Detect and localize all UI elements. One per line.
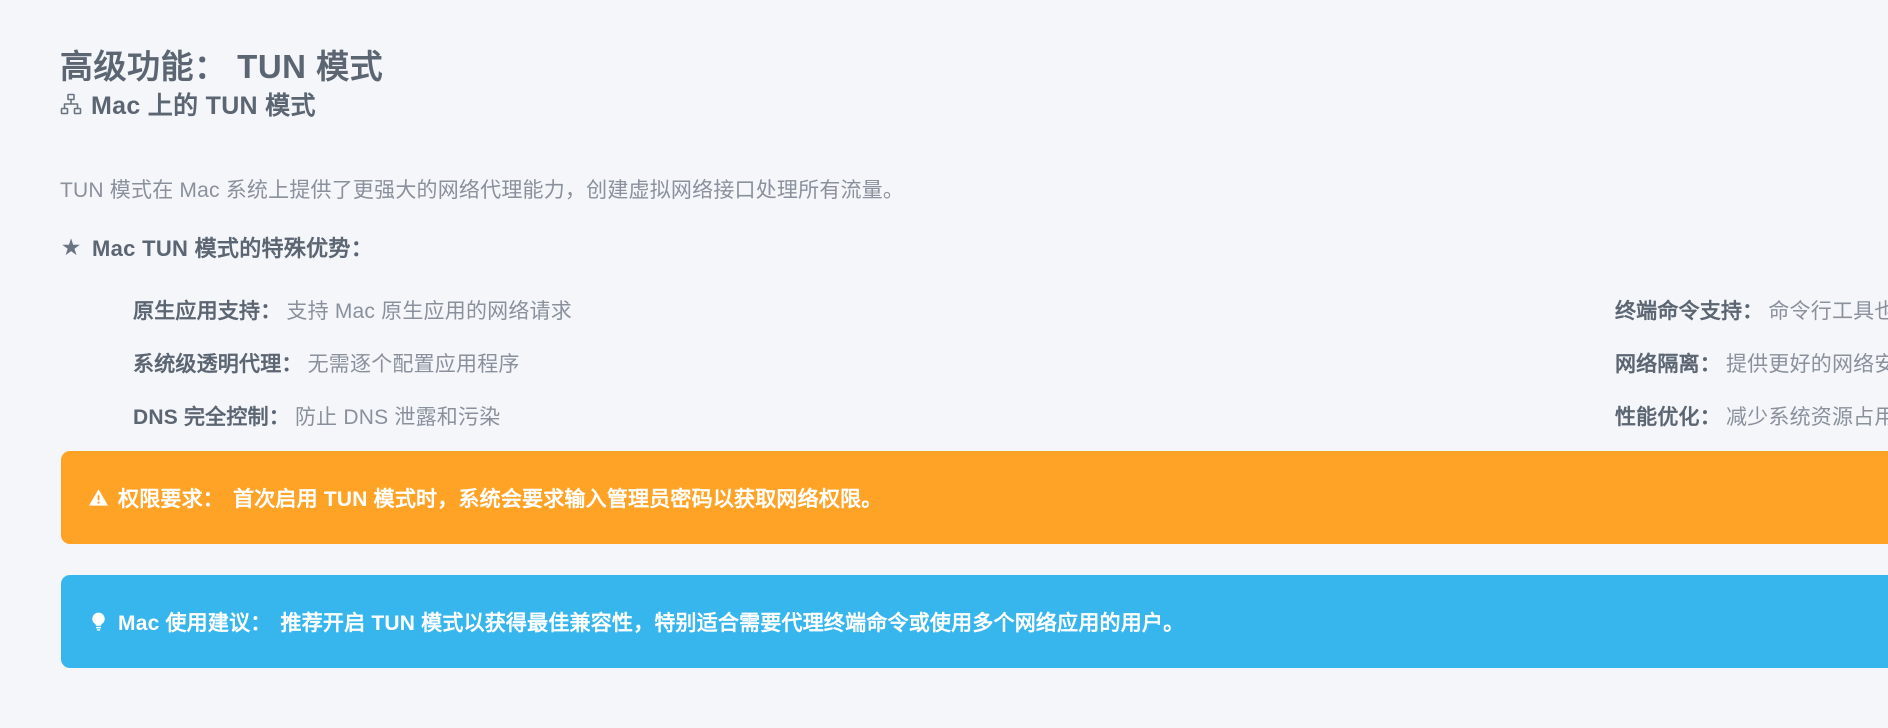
mac-recommendation-term: Mac 使用建议： xyxy=(118,607,272,637)
feature-description: 无需逐个配置应用程序 xyxy=(303,348,520,378)
star-icon: ★ xyxy=(60,236,82,258)
feature-separator: ： xyxy=(269,401,290,431)
feature-description: 命令行工具也走代理 xyxy=(1763,295,1888,325)
feature-term: 系统级透明代理 xyxy=(133,348,281,378)
sitemap-network-icon xyxy=(60,93,82,115)
feature-separator: ： xyxy=(281,348,302,378)
section-description: TUN 模式在 Mac 系统上提供了更强大的网络代理能力，创建虚拟网络接口处理所… xyxy=(60,174,904,204)
tun-mode-document: · · · 高级功能： TUN 模式 Mac 上的 TUN 模式 TUN 模式在… xyxy=(0,0,1888,728)
list-item: 性能优化：减少系统资源占用 xyxy=(1615,389,1888,442)
feature-description: 减少系统资源占用 xyxy=(1721,401,1888,431)
section-subtitle-label: Mac 上的 TUN 模式 xyxy=(91,86,316,122)
feature-term: 原生应用支持 xyxy=(133,295,260,325)
clipped-top-text: · · · xyxy=(0,0,1888,2)
advantages-grid: 原生应用支持：支持 Mac 原生应用的网络请求 系统级透明代理：无需逐个配置应用… xyxy=(0,283,1888,442)
mac-recommendation-content: Mac 使用建议： 推荐开启 TUN 模式以获得最佳兼容性，特别适合需要代理终端… xyxy=(88,607,1184,637)
section-subtitle: Mac 上的 TUN 模式 xyxy=(60,86,316,122)
permission-warning-banner: 权限要求： 首次启用 TUN 模式时，系统会要求输入管理员密码以获取网络权限。 xyxy=(61,451,1888,544)
list-item: 原生应用支持：支持 Mac 原生应用的网络请求 xyxy=(133,283,572,336)
advantages-heading-label: Mac TUN 模式的特殊优势： xyxy=(92,231,373,263)
advantages-right-column: 终端命令支持：命令行工具也走代理 网络隔离：提供更好的网络安全性 性能优化：减少… xyxy=(572,283,1888,442)
permission-warning-text: 首次启用 TUN 模式时，系统会要求输入管理员密码以获取网络权限。 xyxy=(233,483,882,513)
mac-recommendation-banner: Mac 使用建议： 推荐开启 TUN 模式以获得最佳兼容性，特别适合需要代理终端… xyxy=(61,575,1888,668)
page-title: 高级功能： TUN 模式 xyxy=(60,40,383,88)
list-item: 终端命令支持：命令行工具也走代理 xyxy=(1615,283,1888,336)
mac-recommendation-text: 推荐开启 TUN 模式以获得最佳兼容性，特别适合需要代理终端命令或使用多个网络应… xyxy=(281,607,1185,637)
warning-triangle-icon xyxy=(88,487,109,508)
clipped-top-content: · · · xyxy=(0,0,1888,2)
feature-term: 性能优化 xyxy=(1615,401,1700,431)
list-item: 系统级透明代理：无需逐个配置应用程序 xyxy=(133,336,572,389)
list-item: DNS 完全控制：防止 DNS 泄露和污染 xyxy=(133,389,572,442)
feature-description: 提供更好的网络安全性 xyxy=(1721,348,1888,378)
feature-description: 防止 DNS 泄露和污染 xyxy=(290,401,500,431)
feature-separator: ： xyxy=(1700,348,1721,378)
feature-term: DNS 完全控制 xyxy=(133,401,269,431)
feature-term: 终端命令支持 xyxy=(1615,295,1742,325)
list-item: 网络隔离：提供更好的网络安全性 xyxy=(1615,336,1888,389)
feature-separator: ： xyxy=(1742,295,1763,325)
permission-warning-content: 权限要求： 首次启用 TUN 模式时，系统会要求输入管理员密码以获取网络权限。 xyxy=(88,483,882,513)
feature-term: 网络隔离 xyxy=(1615,348,1700,378)
feature-description: 支持 Mac 原生应用的网络请求 xyxy=(281,295,572,325)
feature-separator: ： xyxy=(260,295,281,325)
lightbulb-icon xyxy=(88,611,109,632)
feature-separator: ： xyxy=(1700,401,1721,431)
advantages-left-column: 原生应用支持：支持 Mac 原生应用的网络请求 系统级透明代理：无需逐个配置应用… xyxy=(0,283,572,442)
permission-warning-term: 权限要求： xyxy=(118,483,224,513)
advantages-heading: ★ Mac TUN 模式的特殊优势： xyxy=(60,231,373,263)
